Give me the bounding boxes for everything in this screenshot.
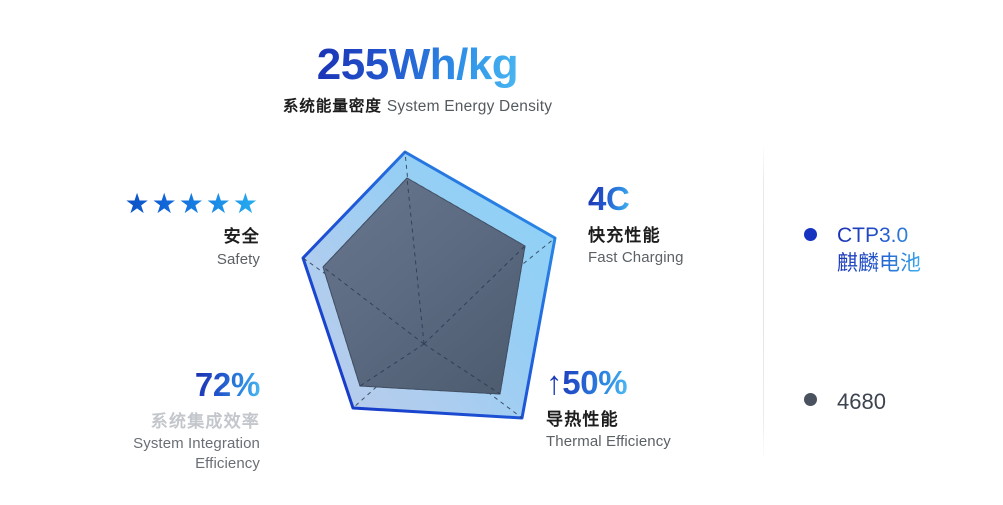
legend-label-4680: 4680 bbox=[837, 387, 886, 417]
headline-label-cn: 系统能量密度 bbox=[283, 98, 382, 115]
safety-stars-icon: ★★★★★ bbox=[124, 190, 260, 218]
legend: CTP3.0 麒麟电池 4680 bbox=[804, 222, 989, 416]
legend-dot-icon-4680 bbox=[804, 393, 817, 406]
metric-system-integration-label-en-1: System Integration bbox=[60, 434, 260, 454]
metric-fast-charging-label-cn: 快充性能 bbox=[588, 223, 788, 249]
metric-system-integration-value: 72% bbox=[195, 368, 260, 403]
legend-label-ctp3-line1: CTP3.0 bbox=[837, 222, 921, 250]
legend-label-ctp3-line2: 麒麟电池 bbox=[837, 250, 921, 278]
headline-label-en: System Energy Density bbox=[387, 98, 552, 115]
infographic-root: 255Wh/kg 系统能量密度System Energy Density bbox=[0, 0, 1003, 505]
metric-thermal-efficiency-value: ↑50% bbox=[546, 366, 627, 401]
legend-item-ctp3[interactable]: CTP3.0 麒麟电池 bbox=[804, 222, 989, 279]
metric-system-integration-label-en-2: Efficiency bbox=[60, 454, 260, 474]
vertical-divider bbox=[763, 143, 764, 461]
metric-fast-charging-value: 4C bbox=[588, 182, 630, 217]
metric-safety-label-en: Safety bbox=[78, 250, 260, 270]
legend-dot-icon-ctp3 bbox=[804, 228, 817, 241]
metric-safety-label-cn: 安全 bbox=[78, 224, 260, 250]
metric-thermal-efficiency: ↑50% 导热性能 Thermal Efficiency bbox=[546, 366, 756, 452]
metric-thermal-efficiency-label-cn: 导热性能 bbox=[546, 407, 756, 433]
metric-fast-charging: 4C 快充性能 Fast Charging bbox=[588, 182, 788, 268]
legend-item-4680[interactable]: 4680 bbox=[804, 387, 989, 417]
legend-label-ctp3: CTP3.0 麒麟电池 bbox=[837, 222, 921, 279]
metric-system-integration-label-cn: 系统集成效率 bbox=[60, 409, 260, 435]
headline-value: 255Wh/kg bbox=[317, 42, 518, 88]
legend-label-4680-line1: 4680 bbox=[837, 387, 886, 417]
headline-block: 255Wh/kg 系统能量密度System Energy Density bbox=[0, 42, 835, 116]
headline-subtitle: 系统能量密度System Energy Density bbox=[0, 94, 835, 116]
metric-safety: ★★★★★ 安全 Safety bbox=[78, 190, 260, 270]
metric-thermal-efficiency-label-en: Thermal Efficiency bbox=[546, 432, 756, 452]
metric-system-integration: 72% 系统集成效率 System Integration Efficiency bbox=[60, 368, 260, 475]
metric-fast-charging-label-en: Fast Charging bbox=[588, 248, 788, 268]
radar-chart bbox=[276, 136, 576, 436]
